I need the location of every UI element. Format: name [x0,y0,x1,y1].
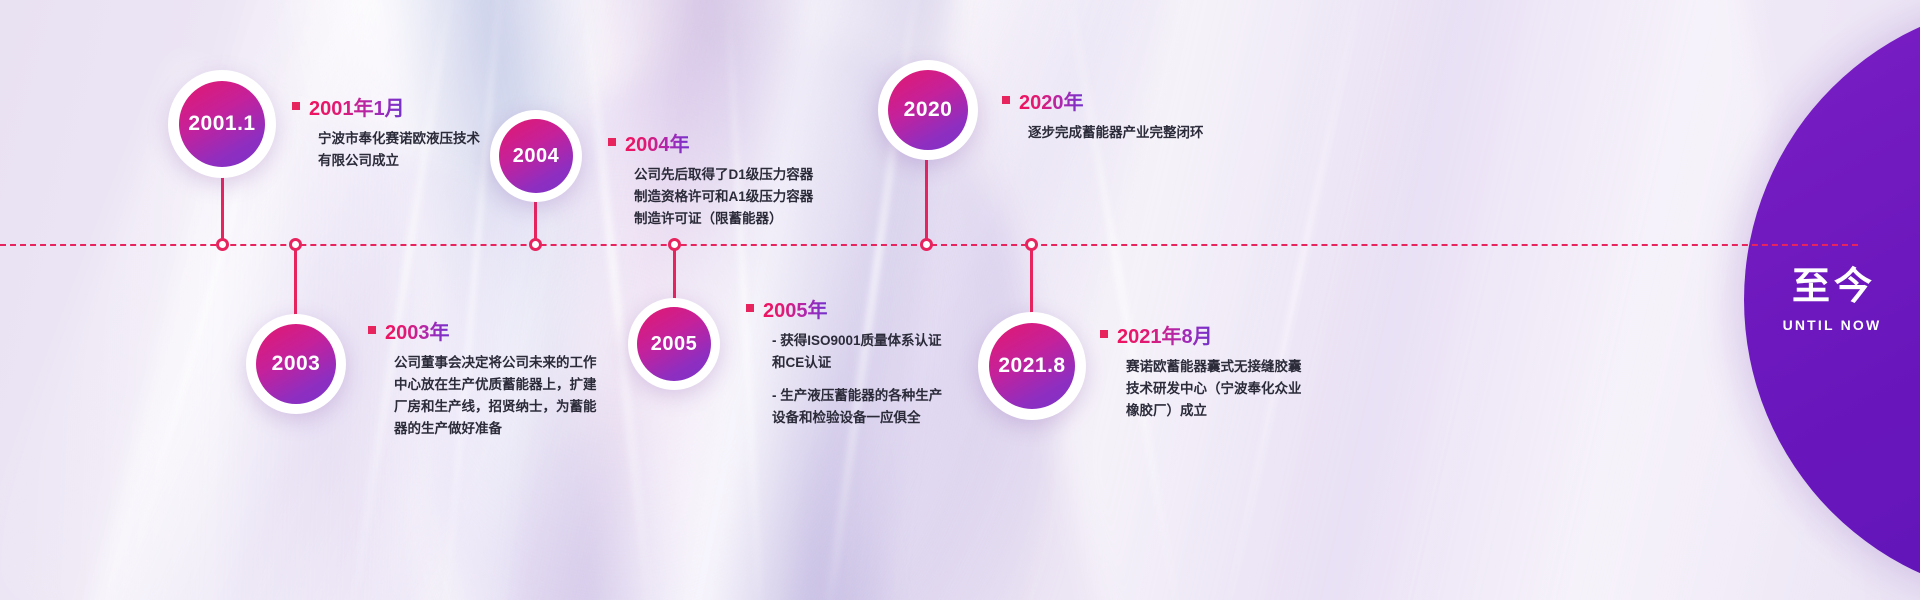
badge-bubble-2004[interactable]: 2004 [490,110,582,202]
badge-label-2005: 2005 [651,333,698,356]
light-streak-2 [439,0,507,600]
badge-inner-2020: 2020 [888,70,968,150]
milestone-paragraph: - 生产液压蓄能器的各种生产设备和检验设备一应俱全 [772,385,946,429]
axis-dot-2003 [289,238,302,251]
badge-inner-2001-1: 2001.1 [179,81,265,167]
until-now-en: UNTIL NOW [1783,317,1882,333]
badge-label-2001-1: 2001.1 [188,112,255,136]
axis-dot-2001-1 [216,238,229,251]
milestone-paragraph: 逐步完成蓄能器产业完整闭环 [1028,122,1282,144]
badge-inner-2003: 2003 [256,324,336,404]
badge-bubble-2003[interactable]: 2003 [246,314,346,414]
milestone-paragraph: 宁波市奉化赛诺欧液压技术有限公司成立 [318,128,482,172]
badge-bubble-2005[interactable]: 2005 [628,298,720,390]
milestone-heading-row-2021-8: 2021年8月 [1100,320,1310,349]
milestone-heading-2020: 2020年 [1019,86,1084,115]
axis-dot-2005 [668,238,681,251]
milestone-heading-2003: 2003年 [385,316,450,345]
badge-inner-2005: 2005 [637,307,711,381]
bullet-square-icon [746,304,754,312]
badge-label-2003: 2003 [272,352,321,376]
until-now-block: 至今 UNTIL NOW [1744,0,1920,600]
milestone-heading-2021-8: 2021年8月 [1117,320,1213,349]
badge-label-2004: 2004 [513,145,560,168]
milestone-heading-row-2004: 2004年 [608,128,818,157]
milestone-body-2003: 公司董事会决定将公司未来的工作中心放在生产优质蓄能器上，扩建厂房和生产线，招贤纳… [368,352,598,439]
bullet-square-icon [368,326,376,334]
milestone-heading-row-2020: 2020年 [1002,86,1282,115]
badge-bubble-2001-1[interactable]: 2001.1 [168,70,276,178]
stem-2021-8 [1030,244,1033,320]
bullet-square-icon [292,102,300,110]
axis-dot-2020 [920,238,933,251]
milestone-text-2020: 2020年 逐步完成蓄能器产业完整闭环 [1002,86,1282,144]
axis-dot-2021-8 [1025,238,1038,251]
timeline-infographic: 至今 UNTIL NOW 2001.1 2001年1月 宁波市奉化赛诺欧液压技术… [0,0,1920,600]
milestone-text-2005: 2005年 - 获得ISO9001质量体系认证和CE认证 - 生产液压蓄能器的各… [746,294,946,428]
milestone-heading-2001-1: 2001年1月 [309,92,405,121]
badge-inner-2021-8: 2021.8 [989,323,1075,409]
light-streak-1 [345,0,458,600]
badge-inner-2004: 2004 [499,119,573,193]
badge-bubble-2020[interactable]: 2020 [878,60,978,160]
milestone-text-2003: 2003年 公司董事会决定将公司未来的工作中心放在生产优质蓄能器上，扩建厂房和生… [368,316,598,439]
badge-label-2021-8: 2021.8 [998,354,1065,378]
stem-2020 [925,160,928,250]
milestone-text-2021-8: 2021年8月 赛诺欧蓄能器囊式无接缝胶囊技术研发中心（宁波奉化众业橡胶厂）成立 [1100,320,1310,422]
milestone-heading-row-2003: 2003年 [368,316,598,345]
milestone-heading-2005: 2005年 [763,294,828,323]
milestone-heading-2004: 2004年 [625,128,690,157]
milestone-paragraph: 公司先后取得了D1级压力容器制造资格许可和A1级压力容器制造许可证（限蓄能器） [634,164,818,230]
milestone-body-2005: - 获得ISO9001质量体系认证和CE认证 - 生产液压蓄能器的各种生产设备和… [746,330,946,428]
milestone-paragraph: - 获得ISO9001质量体系认证和CE认证 [772,330,946,374]
light-streak-3 [578,0,656,600]
milestone-heading-row-2001-1: 2001年1月 [292,92,482,121]
bullet-square-icon [1002,96,1010,104]
milestone-text-2001-1: 2001年1月 宁波市奉化赛诺欧液压技术有限公司成立 [292,92,482,172]
badge-bubble-2021-8[interactable]: 2021.8 [978,312,1086,420]
badge-label-2020: 2020 [904,98,953,122]
axis-dot-2004 [529,238,542,251]
stem-2003 [294,244,297,322]
milestone-text-2004: 2004年 公司先后取得了D1级压力容器制造资格许可和A1级压力容器制造许可证（… [608,128,818,230]
until-now-cn: 至今 [1792,267,1876,309]
milestone-body-2001-1: 宁波市奉化赛诺欧液压技术有限公司成立 [292,128,482,172]
milestone-heading-row-2005: 2005年 [746,294,946,323]
milestone-body-2020: 逐步完成蓄能器产业完整闭环 [1002,122,1282,144]
milestone-body-2004: 公司先后取得了D1级压力容器制造资格许可和A1级压力容器制造许可证（限蓄能器） [608,164,818,230]
bullet-square-icon [608,138,616,146]
bullet-square-icon [1100,330,1108,338]
milestone-paragraph: 赛诺欧蓄能器囊式无接缝胶囊技术研发中心（宁波奉化众业橡胶厂）成立 [1126,356,1310,422]
milestone-body-2021-8: 赛诺欧蓄能器囊式无接缝胶囊技术研发中心（宁波奉化众业橡胶厂）成立 [1100,356,1310,422]
milestone-paragraph: 公司董事会决定将公司未来的工作中心放在生产优质蓄能器上，扩建厂房和生产线，招贤纳… [394,352,598,439]
